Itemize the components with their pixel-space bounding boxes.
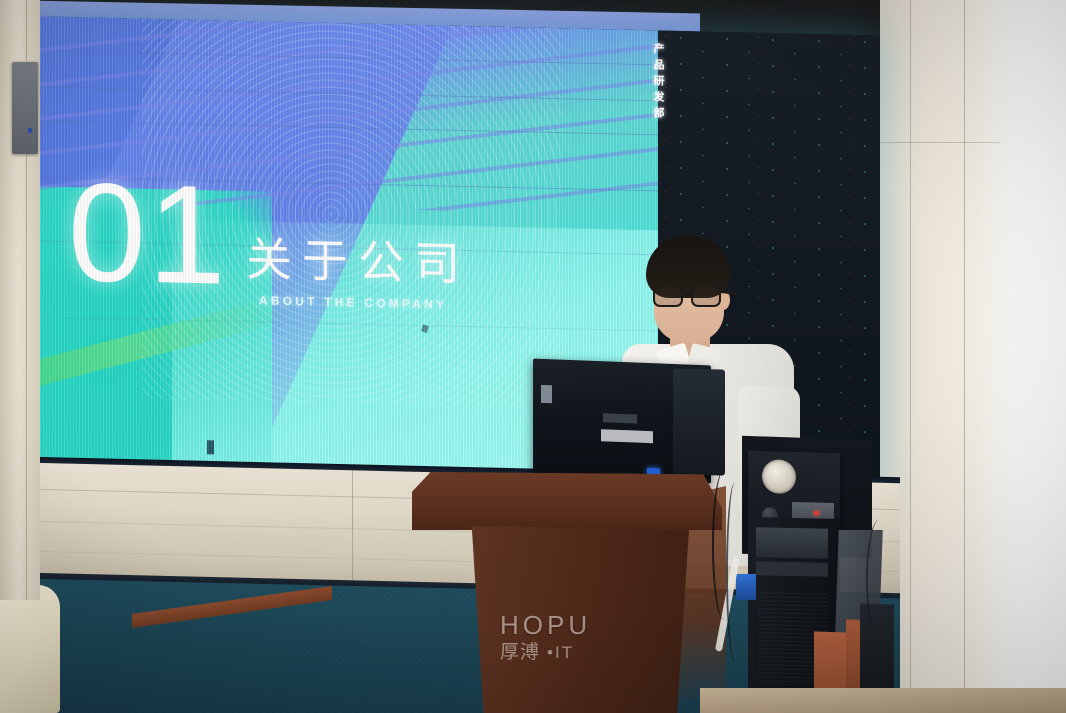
monitor-label xyxy=(601,429,653,443)
amplifier-power-led xyxy=(814,511,819,516)
slide-section-number: 01 xyxy=(68,162,228,306)
monitor-back-housing xyxy=(673,368,725,475)
vertical-caption-char: 研 xyxy=(654,76,665,87)
monitor-ports xyxy=(603,413,637,423)
podium-brand-cn: 厚溥 xyxy=(500,643,540,662)
glasses-icon xyxy=(651,285,729,307)
floor-edge-strip xyxy=(700,688,1066,713)
conference-room-scene: 01 关于公司 ABOUT THE COMPANY 产 品 研 发 部 xyxy=(0,0,1066,713)
optical-drive[interactable] xyxy=(756,527,828,559)
confidence-monitor xyxy=(533,359,711,484)
chair xyxy=(0,585,60,713)
vertical-caption-char: 部 xyxy=(654,108,665,119)
podium-logo: HOPU 厚溥 •IT xyxy=(500,612,650,662)
vertical-caption-char: 发 xyxy=(654,92,665,103)
screen-cursor-artifact xyxy=(207,440,214,454)
podium-top xyxy=(412,472,722,530)
cable-bundle xyxy=(726,482,744,662)
slide-title: 关于公司 xyxy=(246,223,470,294)
podium-brand-text: HOPU xyxy=(500,612,650,638)
wall-control-unit xyxy=(12,62,38,154)
slide-vertical-caption: 产 品 研 发 部 xyxy=(650,44,668,229)
vertical-caption-char: 品 xyxy=(654,60,665,71)
right-marble-wall xyxy=(880,0,1066,713)
monitor-sticker xyxy=(541,385,552,403)
window-glare xyxy=(974,0,1066,713)
vertical-caption-char: 产 xyxy=(654,44,665,55)
monitor-power-led xyxy=(647,468,660,474)
podium-brand-suffix: •IT xyxy=(547,644,574,661)
drive-bay xyxy=(756,561,828,577)
vu-meter-dial xyxy=(762,459,796,494)
cable-bundle xyxy=(866,520,892,640)
